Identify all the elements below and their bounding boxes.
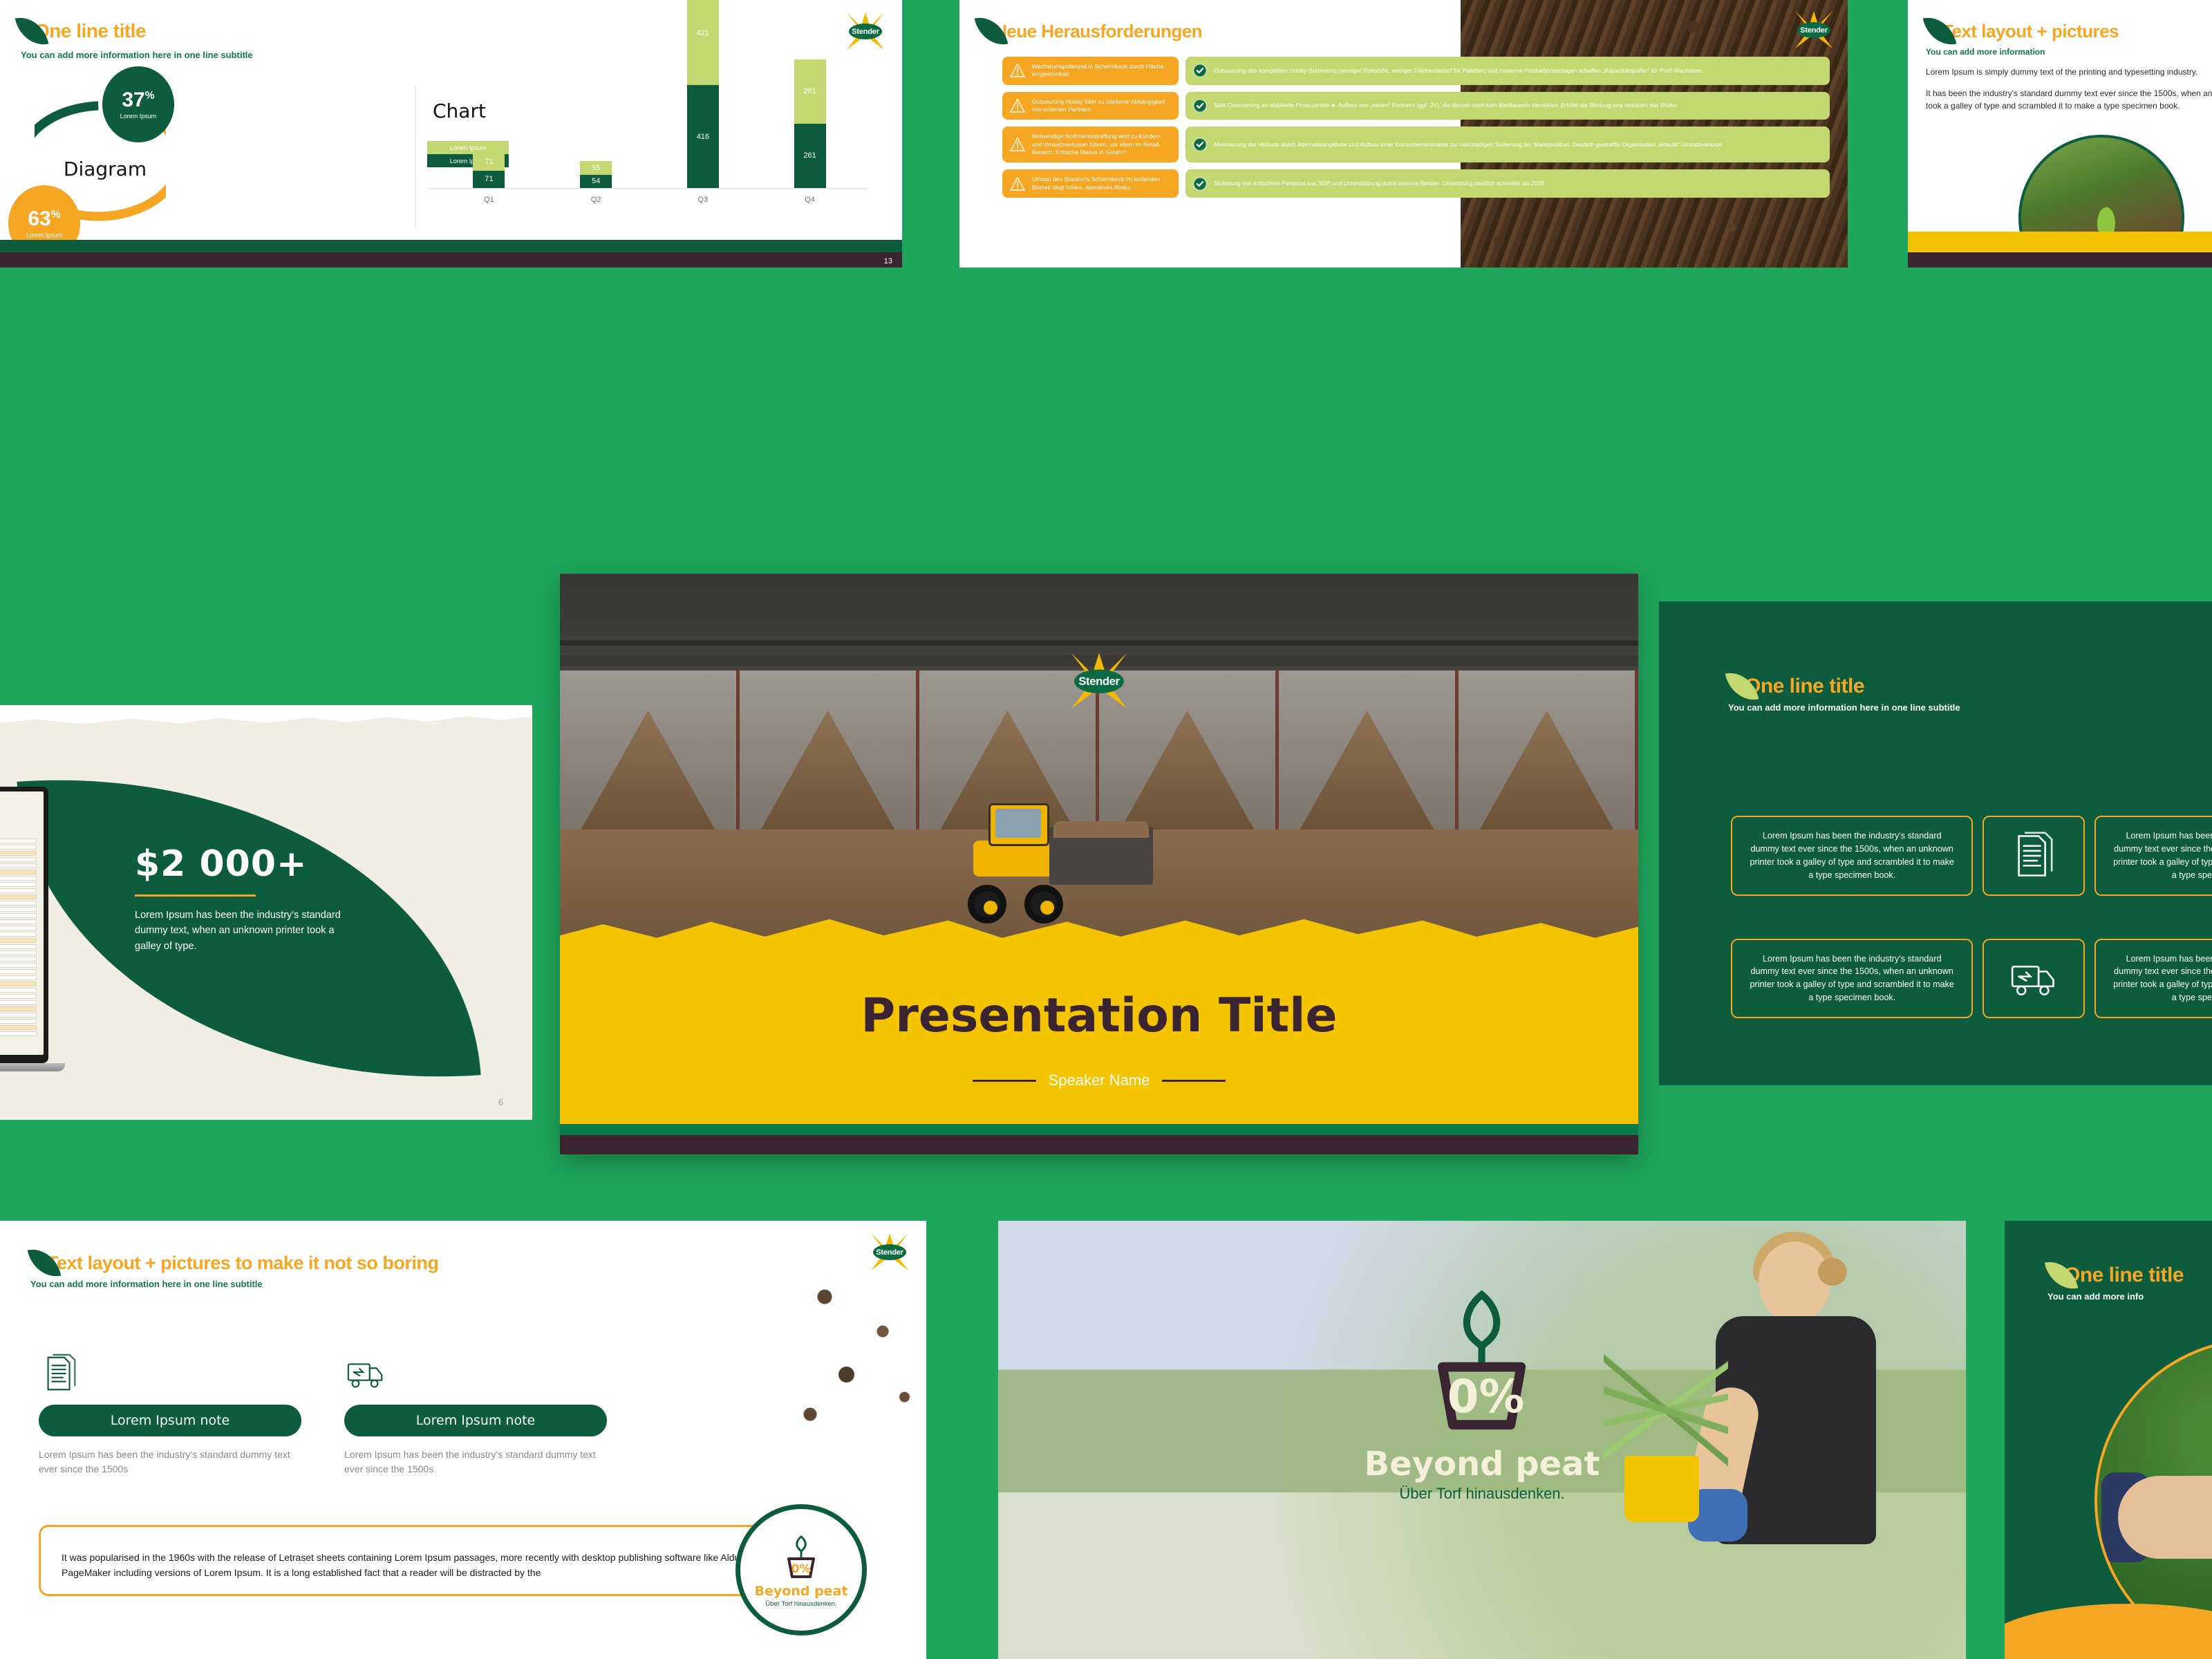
risk-solution-row[interactable]: Umbau des Standorts Schermbeck im laufen… [1002,169,1830,198]
risk-text: Outsourcing Hobby führt zu stärkerer Abh… [1032,98,1172,114]
leaf-icon [28,1244,62,1281]
chart-bar-Q1: 7171 [473,153,505,188]
card-text-right: Lorem Ipsum has been the industry's stan… [2094,939,2212,1019]
logo-wordmark: Stender [849,24,882,39]
feature-column: Lorem Ipsum note Lorem Ipsum has been th… [344,1345,607,1477]
stender-logo: Stender [871,1233,908,1271]
chart-bar-Q2: 5554 [580,161,612,188]
spreadsheet-cell [0,982,37,986]
card-text-right: Lorem Ipsum has been the industry's stan… [2094,816,2212,896]
chart-plot-area: 71715554421416261261 Q1Q2Q3Q4 [423,98,868,207]
documents-icon [39,1345,301,1395]
page-subtitle: You can add more info [2047,1291,2212,1302]
spreadsheet-cell [0,988,37,993]
spreadsheet-cell [0,957,37,962]
spreadsheet-cell [0,1031,37,1036]
warning-triangle-icon [1009,137,1026,152]
facility-photo [560,574,1638,947]
card-text: Lorem Ipsum has been the industry's stan… [1731,816,1973,896]
warning-triangle-icon [1009,98,1026,113]
footer-dark-bar [1908,252,2212,268]
spreadsheet-grid [0,838,37,1036]
spreadsheet-cell [0,950,37,955]
risk-solution-list: Wachstumspotenzial in Schermbeck durch F… [1002,57,1830,198]
torn-paper-edge [0,705,532,730]
documents-icon [1983,816,2084,896]
warning-triangle-icon [1009,98,1026,113]
page-subtitle: You can add more information here in one… [21,50,884,60]
x-tick-label: Q3 [687,196,719,204]
x-tick-label: Q2 [580,196,612,204]
slide9-title-row: One line title [2047,1259,2212,1291]
spreadsheet-cell [0,1019,37,1024]
photo-bay [1279,671,1459,829]
page-title: One line title [1745,675,1864,698]
spreadsheet-cell [0,851,37,856]
loader-wheel [1024,885,1063,924]
slide1-title-row: One line title [18,15,884,47]
slide1-header: One line title You can add more informat… [0,0,902,60]
laptop-screen: n: Torffrei '28 FREI '28BEYOND PEATMISSI… [0,787,48,1063]
spreadsheet-cell [0,882,37,887]
warning-triangle-icon [1009,137,1026,152]
solution-card[interactable]: Statt Outsourcing an etablierte Produzen… [1185,92,1830,120]
spreadsheet-cell [0,932,37,937]
leaf-icon [15,12,49,49]
loader-wheel-hub [984,901,997,915]
risk-card[interactable]: Wachstumspotenzial in Schermbeck durch F… [1002,57,1179,85]
yellow-plant-pot [1624,1456,1699,1522]
stat-caption: Lorem Ipsum [26,232,63,238]
slide-text-layout-pictures-top[interactable]: Text layout + pictures You can add more … [1908,0,2212,268]
spreadsheet-cell [0,926,37,930]
check-circle-icon [1192,63,1208,78]
slide-diagram-chart[interactable]: One line title You can add more informat… [0,0,902,268]
risk-solution-row[interactable]: Notwendige Sortimentsstraffung wird zu K… [1002,126,1830,162]
spreadsheet-cell [0,838,37,843]
laptop-base [0,1063,65,1071]
warning-triangle-icon [1009,63,1026,78]
feature-note: Lorem Ipsum has been the industry's stan… [39,1447,301,1477]
spreadsheet-cell [0,938,37,943]
beyond-peat-badge: 0% Beyond peat Über Torf hinausdenken. [735,1504,867,1635]
photo-soil-pile [1480,711,1614,830]
stat-description: Lorem Ipsum has been the industry's stan… [135,908,363,954]
slide3-header: Text layout + pictures You can add more … [1908,0,2212,112]
speaker-name: Speaker Name [1049,1071,1150,1089]
chart-bar-Q3: 421416 [687,0,719,188]
card-text: Lorem Ipsum has been the industry's stan… [1731,939,1973,1019]
spreadsheet-cell [0,1025,37,1030]
spreadsheet-cell [0,876,37,881]
check-circle-icon [1192,137,1208,152]
risk-card[interactable]: Umbau des Standorts Schermbeck im laufen… [1002,169,1179,198]
card-rows: Lorem Ipsum has been the industry's stan… [1731,816,2212,1018]
page-subtitle: You can add more information here in one… [1728,702,2212,713]
warning-triangle-icon [1009,63,1026,78]
warning-triangle-icon [1009,176,1026,191]
gardener-photo [1676,1228,1904,1615]
check-circle-icon [1192,63,1208,78]
page-subtitle: You can add more information [1926,47,2212,57]
check-circle-icon [1192,98,1208,113]
footer-yellow-curve [2005,1604,2212,1659]
slide2-title-row: Neue Herausforderungen [977,15,1830,47]
badge-subtitle: Über Torf hinausdenken. [765,1600,836,1608]
chart-x-axis [429,188,868,189]
slide-neue-herausforderungen[interactable]: Neue Herausforderungen Stender Wachstums… [959,0,1848,268]
spreadsheet-cell [0,919,37,924]
chart-x-tick-labels: Q1Q2Q3Q4 [435,196,863,204]
bar-segment-light: 421 [687,0,719,85]
stat-value: 37% [122,90,154,111]
slide-stat-2000[interactable]: n: Torffrei '28 FREI '28BEYOND PEATMISSI… [0,705,532,1120]
check-circle-icon [1192,98,1208,113]
footer-dark-bar: 13 [0,252,902,268]
slide7-title-row: Text layout + pictures to make it not so… [30,1247,901,1279]
spreadsheet-cell [0,963,37,968]
x-tick-label: Q4 [794,196,826,204]
person-hair-bun [1818,1258,1847,1286]
footer-green-bar [0,240,902,252]
x-tick-label: Q1 [473,196,505,204]
hand-shape [2118,1476,2212,1559]
svg-text:0%: 0% [791,1562,812,1576]
slide-beyond-peat-photo[interactable]: 0% Beyond peat Über Torf hinausdenken. [998,1221,1966,1659]
laptop-mockup: n: Torffrei '28 FREI '28BEYOND PEATMISSI… [0,787,48,1071]
slide2-header: Neue Herausforderungen [959,0,1848,47]
bar-segment-dark: 54 [580,175,612,188]
leaf-icon [2045,1257,2079,1293]
slide9-header: One line title You can add more info [2005,1221,2212,1302]
chart-bar-Q4: 261261 [794,59,826,188]
stat-value: 63% [28,209,60,229]
loader-cab-glass [995,809,1041,838]
risk-card[interactable]: Notwendige Sortimentsstraffung wird zu K… [1002,126,1179,162]
spreadsheet-cell [0,870,37,874]
spreadsheet-cell [0,1006,37,1011]
footer-dark-bar [560,1135,1638,1154]
solution-card[interactable]: Outsourcing des kompletten Hobby-Sortime… [1185,57,1830,85]
risk-solution-row[interactable]: Wachstumspotenzial in Schermbeck durch F… [1002,57,1830,85]
spreadsheet-title: n: Torffrei '28 [0,798,37,815]
loader-wheel-hub [1040,901,1054,915]
slide6-title-row: One line title [1728,671,2212,702]
spreadsheet-cell [0,901,37,906]
spreadsheet-view: n: Torffrei '28 FREI '28BEYOND PEATMISSI… [0,791,44,1055]
plant-foliage [1604,1345,1728,1470]
bar-segment-light: 71 [473,153,505,170]
solution-text: Sicherung von kritischem Personal aus SD… [1214,180,1544,187]
body-paragraph-2: It has been the industry's standard dumm… [1926,88,2212,112]
leaf-icon [975,12,1009,49]
donut-diagram-panel: Diagram 37% Lorem Ipsum 63% Lorem Ipsum [0,59,415,237]
spreadsheet-tabs[interactable]: FREI '28BEYOND PEATMISSION: TORFFREI '28 [0,825,37,834]
photo-ceiling-beam-back [560,640,1638,646]
feature-column: Lorem Ipsum note Lorem Ipsum has been th… [39,1345,301,1477]
risk-text: Umbau des Standorts Schermbeck im laufen… [1032,176,1172,191]
solution-text: Minimierung der Verluste durch Alternati… [1214,141,1722,149]
card-row[interactable]: Lorem Ipsum has been the industry's stan… [1731,939,2212,1019]
check-circle-icon [1192,137,1208,152]
page-title: Text layout + pictures to make it not so… [47,1253,438,1274]
chart-bars: 71715554421416261261 [435,98,863,188]
photo-soil-pile [1300,711,1434,830]
beyond-peat-logo: 0% Beyond peat Über Torf hinausdenken. [1365,1288,1600,1503]
logo-wordmark: Stender [1797,22,1830,38]
page-title: One line title [2064,1264,2184,1287]
stat-caption: Lorem Ipsum [120,113,157,120]
spreadsheet-cell [0,969,37,974]
person-head [1759,1241,1830,1323]
logo-title: Beyond peat [1365,1445,1600,1483]
page-number: 6 [498,1097,503,1107]
page-title: Neue Herausforderungen [994,21,1202,42]
slide-green-hand-photo[interactable]: One line title You can add more info [2005,1221,2212,1659]
leaf-icon [1923,12,1957,49]
leaf-icon [1725,668,1759,704]
soil-decoration [781,1262,926,1435]
feature-pill[interactable]: Lorem Ipsum note [39,1405,301,1436]
page-subtitle: You can add more information here in one… [30,1279,901,1289]
divider-dash-right [1162,1080,1226,1082]
risk-solution-row[interactable]: Outsourcing Hobby führt zu stärkerer Abh… [1002,92,1830,120]
feature-columns: Lorem Ipsum note Lorem Ipsum has been th… [39,1345,607,1477]
stender-logo: Stender [847,12,884,50]
feature-note: Lorem Ipsum has been the industry's stan… [344,1447,607,1477]
spreadsheet-cell [0,907,37,912]
wheel-loader-vehicle [953,799,1160,924]
spreadsheet-cell [0,845,37,850]
spreadsheet-cell [0,944,37,949]
slide-text-layout-pictures-bottom[interactable]: Text layout + pictures to make it not so… [0,1221,926,1659]
presentation-title: Presentation Title [560,988,1638,1043]
spreadsheet-cell [0,863,37,868]
spreadsheet-cell [0,1000,37,1005]
slide-deck-board: One line title You can add more informat… [0,0,2212,1659]
badge-title: Beyond peat [755,1584,848,1599]
photo-bay [740,671,919,829]
bar-segment-dark: 416 [687,85,719,188]
divider-rule [135,894,256,897]
bar-chart-panel: Chart Lorem Ipsum Lorem Ipsum 7171555442… [415,86,874,227]
page-title: Text layout + pictures [1942,21,2119,42]
diagram-label: Diagram [43,158,167,180]
stat-bubble-37: 37% Lorem Ipsum [102,66,174,142]
feature-pill[interactable]: Lorem Ipsum note [344,1405,607,1436]
check-circle-icon [1192,176,1208,191]
slide3-title-row: Text layout + pictures [1926,15,2212,47]
spreadsheet-cell [0,857,37,862]
slide-green-cards[interactable]: One line title You can add more informat… [1659,601,2212,1085]
check-circle-icon [1192,176,1208,191]
zero-percent-label: 0% [1447,1371,1525,1423]
risk-text: Notwendige Sortimentsstraffung wird zu K… [1032,133,1172,156]
footer-green-bar [560,1124,1638,1135]
warning-triangle-icon [1009,176,1026,191]
spreadsheet-cell [0,913,37,918]
slide6-header: One line title You can add more informat… [1659,601,2212,713]
bar-segment-dark: 261 [794,124,826,188]
stender-logo: Stender [1071,653,1127,709]
solution-card[interactable]: Sicherung von kritischem Personal aus SD… [1185,169,1830,198]
stat-block: $2 000+ Lorem Ipsum has been the industr… [135,843,363,954]
logo-subtitle: Über Torf hinausdenken. [1365,1485,1600,1503]
stat-value: $2 000+ [135,843,363,885]
loader-wheel [968,885,1006,924]
solution-card[interactable]: Minimierung der Verluste durch Alternati… [1185,126,1830,162]
photo-soil-pile [581,711,715,830]
photo-soil-pile [761,711,895,830]
spreadsheet-cell [0,1013,37,1018]
card-row[interactable]: Lorem Ipsum has been the industry's stan… [1731,816,2212,896]
logo-wordmark: Stender [873,1244,906,1260]
footer-yellow-band [1908,232,2212,252]
bar-segment-light: 261 [794,59,826,124]
page-title: One line title [35,20,146,42]
bar-segment-light: 55 [580,161,612,175]
stender-logo: Stender [1795,11,1833,48]
spreadsheet-cell [0,975,37,980]
loader-bucket-load [1053,821,1149,838]
solution-text: Outsourcing des kompletten Hobby-Sortime… [1214,67,1702,75]
photo-bay [1459,671,1638,829]
delivery-truck-icon [1983,939,2084,1019]
spreadsheet-cell [0,894,37,899]
spreadsheet-cell [0,888,37,893]
risk-text: Wachstumspotenzial in Schermbeck durch F… [1032,63,1172,79]
plant-pot-icon: 0% [778,1533,824,1582]
body-paragraph-1: Lorem Ipsum is simply dummy text of the … [1926,66,2212,78]
bar-segment-dark: 71 [473,171,505,188]
spreadsheet-cell [0,994,37,999]
page-number: 13 [884,257,892,265]
solution-text: Statt Outsourcing an etablierte Produzen… [1214,102,1677,109]
divider-dash-left [973,1080,1036,1082]
photo-bay [560,671,740,829]
plant-pot-icon: 0% [1413,1288,1551,1437]
logo-wordmark: Stender [1074,670,1124,694]
speaker-line: Speaker Name [560,1071,1638,1089]
delivery-truck-icon [344,1345,607,1395]
long-text-box: It was popularised in the 1960s with the… [39,1525,809,1596]
slide1-body: Diagram 37% Lorem Ipsum 63% Lorem Ipsum … [0,59,902,237]
risk-card[interactable]: Outsourcing Hobby führt zu stärkerer Abh… [1002,92,1179,120]
slide-title-hero[interactable]: Stender Presentation Title Speaker Name [560,574,1638,1154]
